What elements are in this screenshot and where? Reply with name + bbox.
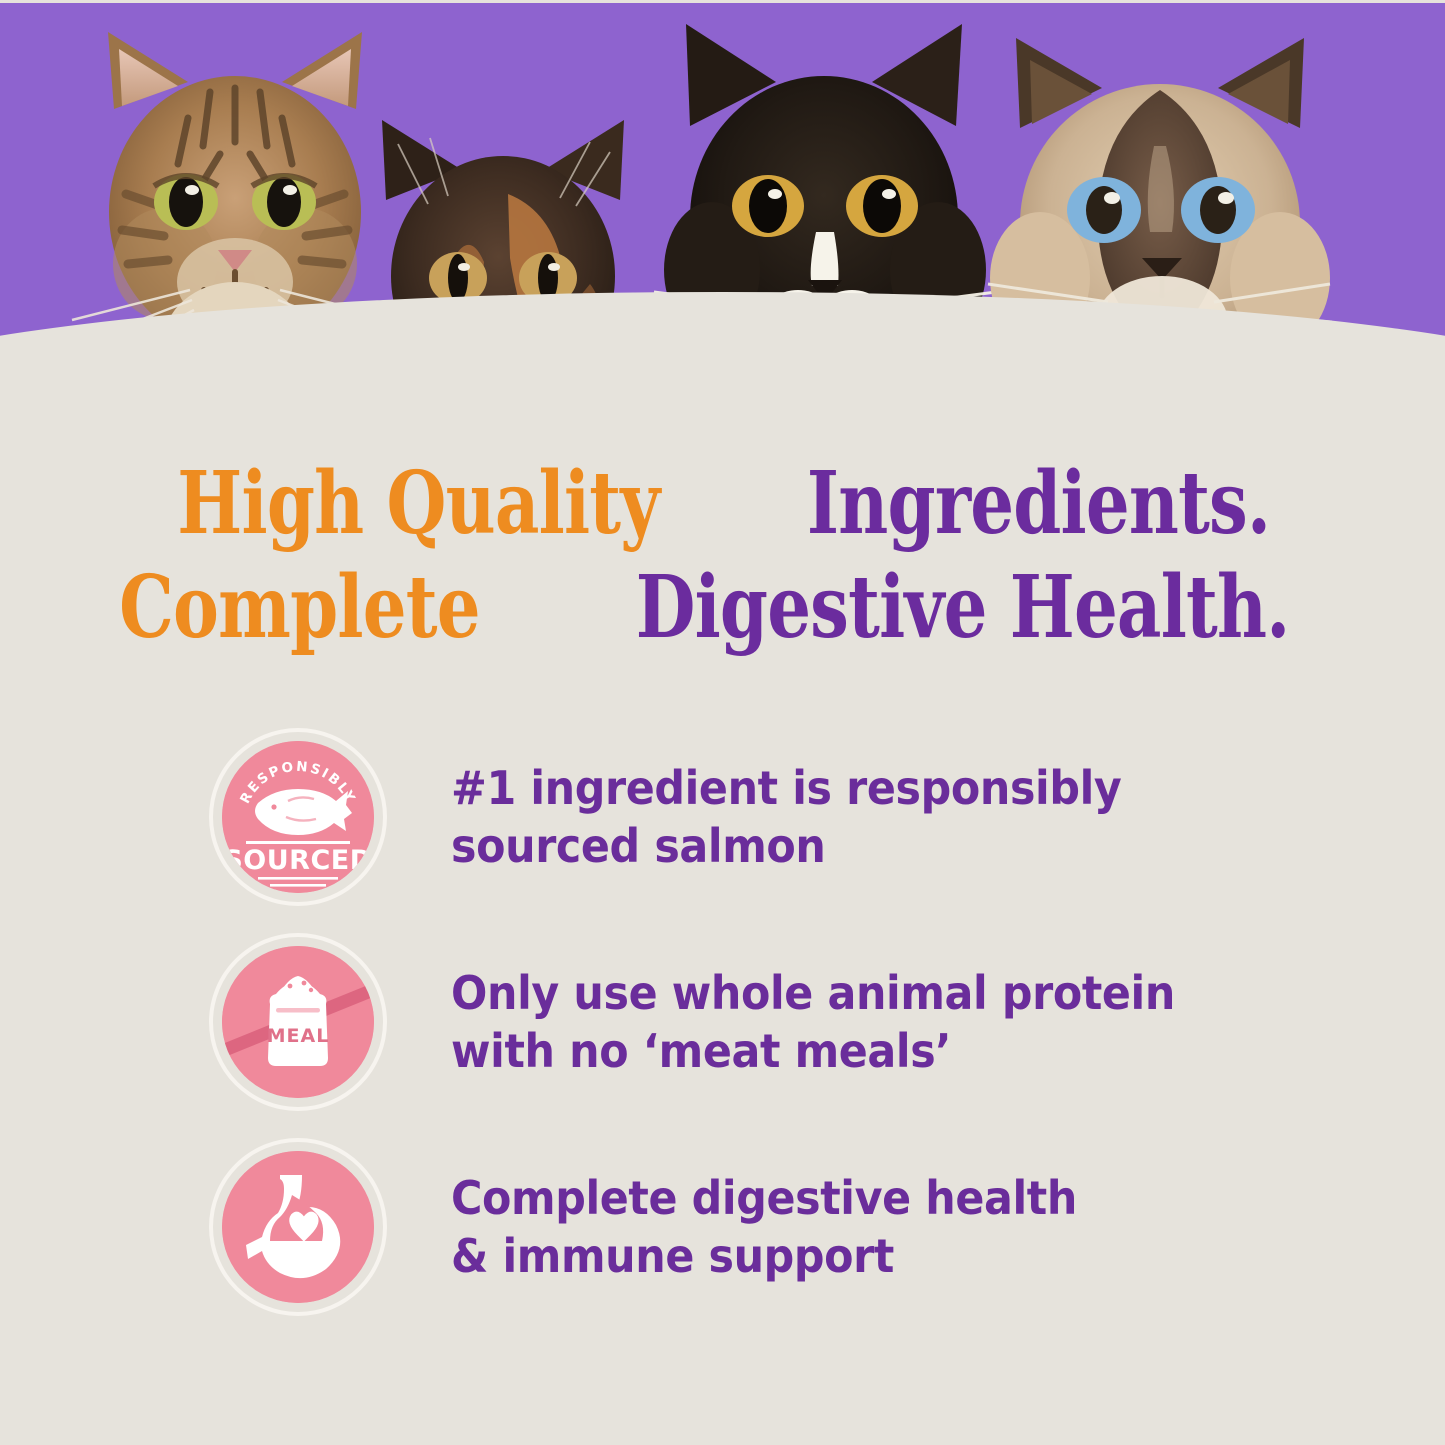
headline-line-2-orange: Complete [119, 556, 480, 660]
benefit-line-2: & immune support [451, 1227, 1077, 1285]
benefit-line-1: Only use whole animal protein [451, 964, 1175, 1022]
badge-main-label: SOURCED [223, 845, 372, 876]
benefit-line-1: #1 ingredient is responsibly [451, 759, 1121, 817]
headline-line-2-purple: Digestive Health. [636, 556, 1290, 660]
headline-line-2: Complete Digestive Health. [0, 556, 1445, 660]
page-title: High Quality Ingredients. Complete Diges… [0, 452, 1445, 660]
hero-banner [0, 0, 1445, 420]
badge-main-label: MEAL [267, 1025, 330, 1047]
headline-line-1: High Quality Ingredients. [0, 452, 1445, 556]
benefit-row-responsibly-sourced: RESPONSIBLY SOURCED #1 ingredi [0, 714, 1445, 919]
digestive-health-stomach-heart-badge [222, 1151, 374, 1303]
hero-bottom-curve [0, 292, 1445, 420]
benefit-line-1: Complete digestive health [451, 1169, 1077, 1227]
product-benefits-poster: High Quality Ingredients. Complete Diges… [0, 0, 1445, 1445]
benefit-text-no-meat-meals: Only use whole animal protein with no ‘m… [451, 964, 1229, 1080]
benefit-row-digestive-health: Complete digestive health & immune suppo… [0, 1124, 1445, 1329]
responsibly-sourced-fish-badge: RESPONSIBLY SOURCED [222, 741, 374, 893]
stomach-heart-icon [222, 1151, 374, 1303]
benefits-list: RESPONSIBLY SOURCED #1 ingredi [0, 714, 1445, 1329]
benefit-line-2: sourced salmon [451, 817, 1121, 875]
benefit-row-no-meat-meals: MEAL Only use whole animal protein with … [0, 919, 1445, 1124]
meal-sack-icon: MEAL [222, 946, 374, 1098]
fish-icon: RESPONSIBLY SOURCED [222, 741, 374, 893]
benefit-text-responsibly-sourced: #1 ingredient is responsibly sourced sal… [451, 759, 1172, 875]
benefit-text-digestive-health: Complete digestive health & immune suppo… [451, 1169, 1124, 1285]
headline-line-1-purple: Ingredients. [807, 452, 1270, 556]
benefit-line-2: with no ‘meat meals’ [451, 1022, 1175, 1080]
no-meat-meal-badge: MEAL [222, 946, 374, 1098]
headline-line-1-orange: High Quality [177, 452, 659, 556]
